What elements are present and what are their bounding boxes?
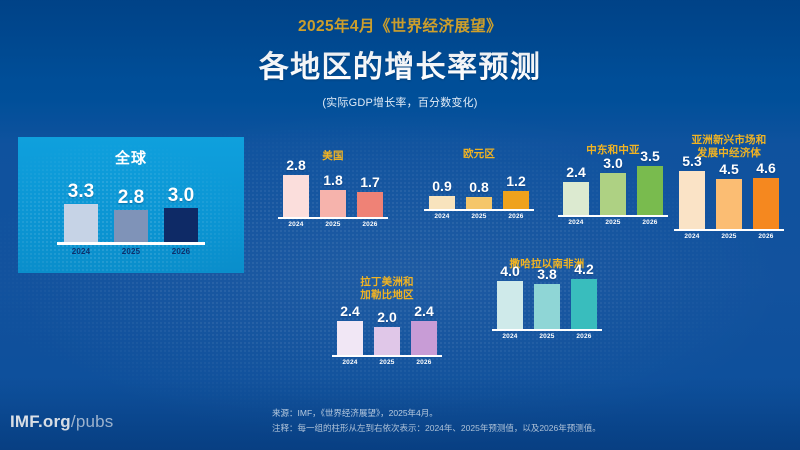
bar-value-label: 2.4 bbox=[414, 304, 433, 318]
footnotes: 来源：IMF，《世界经济展望》，2025年4月。 注释：每一组的柱形从左到右依次… bbox=[272, 406, 601, 436]
bar bbox=[337, 321, 363, 355]
group-label: 欧元区 bbox=[418, 148, 540, 161]
bar bbox=[114, 210, 148, 242]
bar-value-label: 2.4 bbox=[340, 304, 359, 318]
bar-value-label: 0.8 bbox=[469, 180, 488, 194]
axis-tick-2026: 2026 bbox=[637, 219, 663, 226]
bar-group-global: 3.32.83.0202420252026 bbox=[18, 180, 244, 256]
bar-column: 2.8 bbox=[114, 188, 148, 242]
bar-column: 4.2 bbox=[571, 262, 597, 329]
bar-column: 3.8 bbox=[534, 267, 560, 330]
header: 2025年4月《世界经济展望》 各地区的增长率预测 (实际GDP增长率，百分数变… bbox=[0, 14, 800, 110]
bar-group-euro-area: 欧元区0.90.81.2202420252026 bbox=[418, 148, 540, 220]
axis-tick-labels: 202420252026 bbox=[552, 219, 674, 226]
bar bbox=[283, 175, 309, 217]
bar-value-label: 3.8 bbox=[537, 267, 556, 281]
bar-value-label: 4.5 bbox=[719, 162, 738, 176]
axis-tick-labels: 202420252026 bbox=[486, 333, 608, 340]
axis-baseline bbox=[674, 229, 784, 231]
bar-column: 2.4 bbox=[563, 165, 589, 216]
axis-baseline bbox=[332, 355, 442, 357]
axis-tick-2024: 2024 bbox=[563, 219, 589, 226]
axis-tick-2025: 2025 bbox=[534, 333, 560, 340]
axis-tick-2026: 2026 bbox=[164, 247, 198, 256]
bar bbox=[503, 191, 529, 209]
axis-tick-2026: 2026 bbox=[357, 221, 383, 228]
axis-tick-2026: 2026 bbox=[411, 359, 437, 366]
bar bbox=[466, 197, 492, 209]
logo-secondary-text: /pubs bbox=[71, 412, 114, 431]
bar-column: 4.5 bbox=[716, 162, 742, 229]
bar bbox=[429, 196, 455, 210]
bar-value-label: 2.8 bbox=[118, 188, 144, 207]
axis-baseline bbox=[278, 217, 388, 219]
bar bbox=[679, 171, 705, 229]
axis-tick-2024: 2024 bbox=[64, 247, 98, 256]
bar-value-label: 1.8 bbox=[323, 173, 342, 187]
bar-value-label: 3.0 bbox=[168, 186, 194, 205]
logo-primary-text: IMF.org bbox=[10, 412, 71, 431]
bar-column: 2.0 bbox=[374, 310, 400, 355]
axis-tick-2026: 2026 bbox=[753, 233, 779, 240]
bar bbox=[497, 281, 523, 329]
bar-value-label: 2.4 bbox=[566, 165, 585, 179]
axis-tick-labels: 202420252026 bbox=[272, 221, 394, 228]
bar-group-emerging-developing-asia: 亚洲新兴市场和 发展中经济体5.34.54.6202420252026 bbox=[668, 134, 790, 240]
axis-tick-2026: 2026 bbox=[503, 213, 529, 220]
bar bbox=[716, 179, 742, 229]
bar-column: 1.2 bbox=[503, 174, 529, 209]
bar-value-label: 5.3 bbox=[682, 154, 701, 168]
axis-tick-2024: 2024 bbox=[429, 213, 455, 220]
page-subtitle: (实际GDP增长率，百分数变化) bbox=[0, 94, 800, 110]
axis-tick-2024: 2024 bbox=[283, 221, 309, 228]
bar bbox=[637, 166, 663, 215]
group-label: 拉丁美洲和 加勒比地区 bbox=[326, 276, 448, 303]
bar bbox=[411, 321, 437, 355]
bar-column: 3.5 bbox=[637, 149, 663, 215]
axis-tick-2025: 2025 bbox=[374, 359, 400, 366]
bar bbox=[571, 279, 597, 329]
axis-baseline bbox=[492, 329, 602, 331]
axis-tick-2025: 2025 bbox=[320, 221, 346, 228]
bar-column: 3.0 bbox=[164, 186, 198, 243]
axis-tick-2025: 2025 bbox=[716, 233, 742, 240]
bar-column: 4.0 bbox=[497, 264, 523, 329]
group-label-global: 全球 bbox=[18, 147, 244, 168]
bar-value-label: 3.3 bbox=[68, 182, 94, 201]
axis-tick-2025: 2025 bbox=[114, 247, 148, 256]
report-kicker: 2025年4月《世界经济展望》 bbox=[0, 14, 800, 36]
axis-tick-2025: 2025 bbox=[466, 213, 492, 220]
axis-tick-2025: 2025 bbox=[600, 219, 626, 226]
bar-column: 1.8 bbox=[320, 173, 346, 217]
bar bbox=[600, 173, 626, 215]
global-highlight-panel: 全球 3.32.83.0202420252026 bbox=[18, 137, 244, 273]
method-note: 注释：每一组的柱形从左到右依次表示：2024年、2025年预测值，以及2026年… bbox=[272, 421, 601, 436]
bar-group-united-states: 美国2.81.81.7202420252026 bbox=[272, 150, 394, 228]
axis-tick-labels: 202420252026 bbox=[18, 247, 244, 256]
bar-column: 0.8 bbox=[466, 180, 492, 209]
bar-column: 1.7 bbox=[357, 175, 383, 218]
bar-value-label: 4.6 bbox=[756, 161, 775, 175]
infographic-canvas: 2025年4月《世界经济展望》 各地区的增长率预测 (实际GDP增长率，百分数变… bbox=[0, 0, 800, 450]
bar bbox=[534, 284, 560, 330]
axis-tick-labels: 202420252026 bbox=[668, 233, 790, 240]
bar-column: 2.4 bbox=[411, 304, 437, 355]
axis-tick-2026: 2026 bbox=[571, 333, 597, 340]
source-note: 来源：IMF，《世界经济展望》，2025年4月。 bbox=[272, 406, 601, 421]
bar-column: 0.9 bbox=[429, 179, 455, 210]
bar-value-label: 4.0 bbox=[500, 264, 519, 278]
axis-baseline bbox=[57, 242, 205, 245]
bar-group-latin-america-caribbean: 拉丁美洲和 加勒比地区2.42.02.4202420252026 bbox=[326, 276, 448, 366]
bar bbox=[753, 178, 779, 229]
axis-tick-2024: 2024 bbox=[497, 333, 523, 340]
bar-value-label: 3.5 bbox=[640, 149, 659, 163]
axis-tick-2024: 2024 bbox=[337, 359, 363, 366]
bar bbox=[374, 327, 400, 355]
axis-baseline bbox=[424, 209, 534, 211]
bar bbox=[357, 192, 383, 218]
bar-value-label: 4.2 bbox=[574, 262, 593, 276]
axis-baseline bbox=[558, 215, 668, 217]
bar-column: 3.3 bbox=[64, 182, 98, 242]
bar-value-label: 2.0 bbox=[377, 310, 396, 324]
bar-value-label: 1.7 bbox=[360, 175, 379, 189]
bar-value-label: 1.2 bbox=[506, 174, 525, 188]
bar-value-label: 0.9 bbox=[432, 179, 451, 193]
bar-value-label: 3.0 bbox=[603, 156, 622, 170]
bar-group-sub-saharan-africa: 撒哈拉以南非洲4.03.84.2202420252026 bbox=[486, 258, 608, 340]
bar bbox=[563, 182, 589, 216]
bar-column: 5.3 bbox=[679, 154, 705, 229]
bar-column: 4.6 bbox=[753, 161, 779, 229]
axis-tick-2024: 2024 bbox=[679, 233, 705, 240]
bar bbox=[64, 204, 98, 242]
bar bbox=[164, 208, 198, 243]
bar-value-label: 2.8 bbox=[286, 158, 305, 172]
axis-tick-labels: 202420252026 bbox=[326, 359, 448, 366]
bar-column: 2.8 bbox=[283, 158, 309, 217]
axis-tick-labels: 202420252026 bbox=[418, 213, 540, 220]
bar-column: 2.4 bbox=[337, 304, 363, 355]
bar-group-middle-east-central-asia: 中东和中亚2.43.03.5202420252026 bbox=[552, 144, 674, 226]
page-title: 各地区的增长率预测 bbox=[0, 42, 800, 86]
bar-column: 3.0 bbox=[600, 156, 626, 215]
bar bbox=[320, 190, 346, 217]
imf-pubs-logo[interactable]: IMF.org/pubs bbox=[10, 412, 114, 432]
